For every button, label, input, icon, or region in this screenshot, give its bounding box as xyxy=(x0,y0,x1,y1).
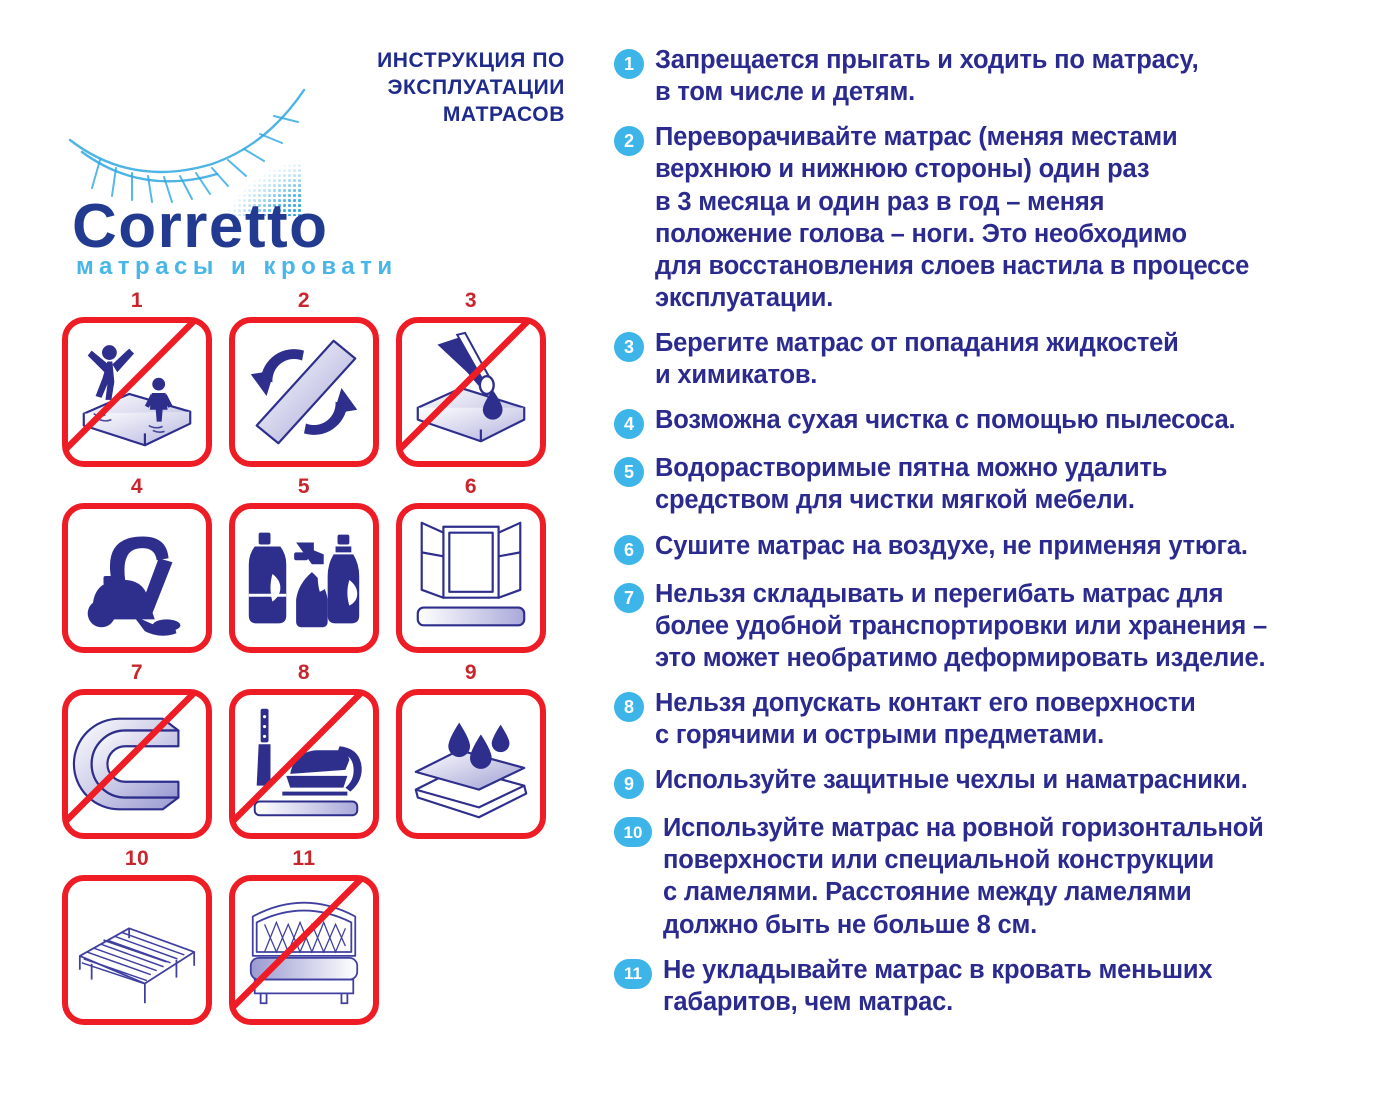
pictogram-cell: 7 xyxy=(62,662,212,839)
pictogram-grid: 1 xyxy=(62,290,582,1025)
cleaning-bottles-icon xyxy=(229,503,379,653)
rule-text: Берегите матрас от попадания жидкостей и… xyxy=(655,327,1179,391)
pictogram-cell: 10 xyxy=(62,848,212,1025)
list-item: 4 Возможна сухая чистка с помощью пылесо… xyxy=(614,404,1380,439)
pictogram-number: 11 xyxy=(229,848,379,869)
rule-text: Используйте защитные чехлы и наматрасник… xyxy=(655,764,1248,796)
rule-badge: 7 xyxy=(614,583,644,613)
pictogram-cell: 3 xyxy=(396,290,546,467)
rule-badge: 5 xyxy=(614,457,644,487)
pictogram-cell: 2 xyxy=(229,290,379,467)
infographic-page: Corretto матрасы и кровати ИНСТРУКЦИЯ ПО… xyxy=(0,0,1400,1120)
pictogram-number: 10 xyxy=(62,848,212,869)
pictogram-row: 1 xyxy=(62,290,582,467)
rules-list: 1 Запрещается прыгать и ходить по матрас… xyxy=(600,0,1400,1120)
rule-text: Не укладывайте матрас в кровать меньших … xyxy=(663,954,1212,1018)
rule-badge: 1 xyxy=(614,49,644,79)
pictogram-row: 10 xyxy=(62,848,582,1025)
pictogram-cell: 8 xyxy=(229,662,379,839)
no-folding-mattress-icon xyxy=(62,689,212,839)
list-item: 2 Переворачивайте матрас (меняя местами … xyxy=(614,121,1380,314)
pictogram-number: 1 xyxy=(62,290,212,311)
pictogram-row: 7 xyxy=(62,662,582,839)
list-item: 3 Берегите матрас от попадания жидкостей… xyxy=(614,327,1380,391)
waterproof-protector-icon xyxy=(396,689,546,839)
rule-badge: 10 xyxy=(614,817,652,847)
pictogram-number: 5 xyxy=(229,476,379,497)
brand-wordmark: Corretto xyxy=(72,196,329,258)
rule-text: Сушите матрас на воздухе, не применяя ут… xyxy=(655,530,1248,562)
list-item: 7 Нельзя складывать и перегибать матрас … xyxy=(614,578,1380,674)
no-liquids-on-mattress-icon xyxy=(396,317,546,467)
no-smaller-bed-frame-icon xyxy=(229,875,379,1025)
rule-text: Нельзя допускать контакт его поверхности… xyxy=(655,687,1196,751)
pictogram-number: 3 xyxy=(396,290,546,311)
list-item: 10 Используйте матрас на ровной горизонт… xyxy=(614,812,1380,941)
pictogram-number: 6 xyxy=(396,476,546,497)
list-item: 5 Водорастворимые пятна можно удалить ср… xyxy=(614,452,1380,516)
list-item: 11 Не укладывайте матрас в кровать меньш… xyxy=(614,954,1380,1018)
rule-text: Запрещается прыгать и ходить по матрасу,… xyxy=(655,44,1199,108)
no-jumping-on-mattress-icon xyxy=(62,317,212,467)
vacuum-cleaner-icon xyxy=(62,503,212,653)
brand-tagline: матрасы и кровати xyxy=(76,255,398,279)
rule-text: Нельзя складывать и перегибать матрас дл… xyxy=(655,578,1267,674)
pictogram-number: 7 xyxy=(62,662,212,683)
list-item: 9 Используйте защитные чехлы и наматрасн… xyxy=(614,764,1380,799)
rule-text: Возможна сухая чистка с помощью пылесоса… xyxy=(655,404,1235,436)
page-title: ИНСТРУКЦИЯ ПО ЭКСПЛУАТАЦИИ МАТРАСОВ xyxy=(265,48,565,129)
pictogram-cell: 1 xyxy=(62,290,212,467)
rule-badge: 4 xyxy=(614,409,644,439)
rule-badge: 6 xyxy=(614,535,644,565)
pictogram-row: 4 xyxy=(62,476,582,653)
rule-badge: 9 xyxy=(614,769,644,799)
pictogram-number: 9 xyxy=(396,662,546,683)
rule-badge: 8 xyxy=(614,692,644,722)
rule-badge: 2 xyxy=(614,126,644,156)
pictogram-cell: 11 xyxy=(229,848,379,1025)
rule-badge: 3 xyxy=(614,332,644,362)
list-item: 6 Сушите матрас на воздухе, не применяя … xyxy=(614,530,1380,565)
no-knife-and-iron-icon xyxy=(229,689,379,839)
list-item: 8 Нельзя допускать контакт его поверхнос… xyxy=(614,687,1380,751)
list-item: 1 Запрещается прыгать и ходить по матрас… xyxy=(614,44,1380,108)
rule-text: Переворачивайте матрас (меняя местами ве… xyxy=(655,121,1249,314)
slatted-bed-base-icon xyxy=(62,875,212,1025)
rotate-flip-mattress-icon xyxy=(229,317,379,467)
pictogram-number: 8 xyxy=(229,662,379,683)
logo-block: Corretto матрасы и кровати ИНСТРУКЦИЯ ПО… xyxy=(0,0,600,290)
pictogram-number: 4 xyxy=(62,476,212,497)
open-window-air-dry-icon xyxy=(396,503,546,653)
rule-text: Используйте матрас на ровной горизонталь… xyxy=(663,812,1264,941)
rule-text: Водорастворимые пятна можно удалить сред… xyxy=(655,452,1167,516)
rule-badge: 11 xyxy=(614,959,652,989)
pictogram-cell: 9 xyxy=(396,662,546,839)
pictogram-cell: 4 xyxy=(62,476,212,653)
pictogram-cell: 6 xyxy=(396,476,546,653)
pictogram-cell: 5 xyxy=(229,476,379,653)
pictogram-number: 2 xyxy=(229,290,379,311)
pictogram-cell-empty xyxy=(396,848,546,1025)
left-column: Corretto матрасы и кровати ИНСТРУКЦИЯ ПО… xyxy=(0,0,600,1120)
